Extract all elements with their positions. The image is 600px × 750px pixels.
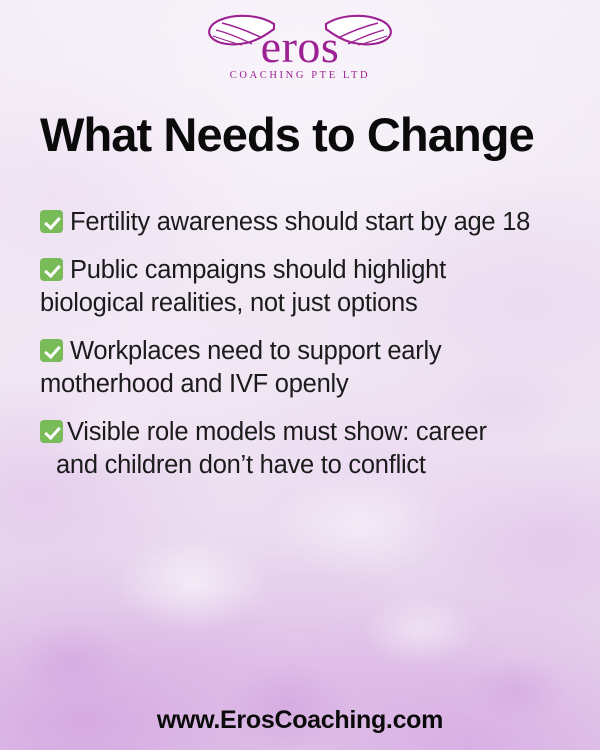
checklist-item-text: biological realities, not just options <box>40 289 417 317</box>
page-title: What Needs to Change <box>40 110 570 160</box>
checklist-item: Public campaigns should highlightbiologi… <box>40 254 570 320</box>
checklist-item-line-primary: Public campaigns should highlight <box>40 254 570 287</box>
green-check-box-icon <box>40 258 63 281</box>
checklist-item-line-primary: Workplaces need to support early <box>40 335 570 368</box>
checklist-item-text: Visible role models must show: career <box>67 418 487 446</box>
logo-tagline: COACHING PTE LTD <box>230 70 370 81</box>
website-url: www.ErosCoaching.com <box>0 706 600 735</box>
checklist-item-line-wrapped: biological realities, not just options <box>40 287 570 320</box>
green-check-box-icon <box>40 210 63 233</box>
eros-coaching-logo: eros COACHING PTE LTD <box>0 8 600 88</box>
checklist-item-text: Public campaigns should highlight <box>70 256 446 284</box>
checklist: Fertility awareness should start by age … <box>40 206 570 497</box>
checklist-item-text: Fertility awareness should start by age … <box>70 208 530 236</box>
logo-wordmark: eros <box>261 21 340 72</box>
checklist-item-line-primary: Fertility awareness should start by age … <box>40 206 570 239</box>
checklist-item-line-primary: Visible role models must show: career <box>40 416 570 449</box>
green-check-box-icon <box>40 420 63 443</box>
checklist-item-text: and children don’t have to conflict <box>56 451 426 479</box>
logo-artwork: eros COACHING PTE LTD <box>200 10 400 86</box>
checklist-item: Visible role models must show: careerand… <box>40 416 570 482</box>
checklist-item-line-wrapped: and children don’t have to conflict <box>40 449 570 482</box>
green-check-box-icon <box>40 339 63 362</box>
checklist-item-text: motherhood and IVF openly <box>40 370 348 398</box>
checklist-item-text: Workplaces need to support early <box>70 337 441 365</box>
social-post-card: eros COACHING PTE LTD What Needs to Chan… <box>0 0 600 750</box>
checklist-item: Workplaces need to support earlymotherho… <box>40 335 570 401</box>
checklist-item: Fertility awareness should start by age … <box>40 206 570 239</box>
checklist-item-line-wrapped: motherhood and IVF openly <box>40 368 570 401</box>
